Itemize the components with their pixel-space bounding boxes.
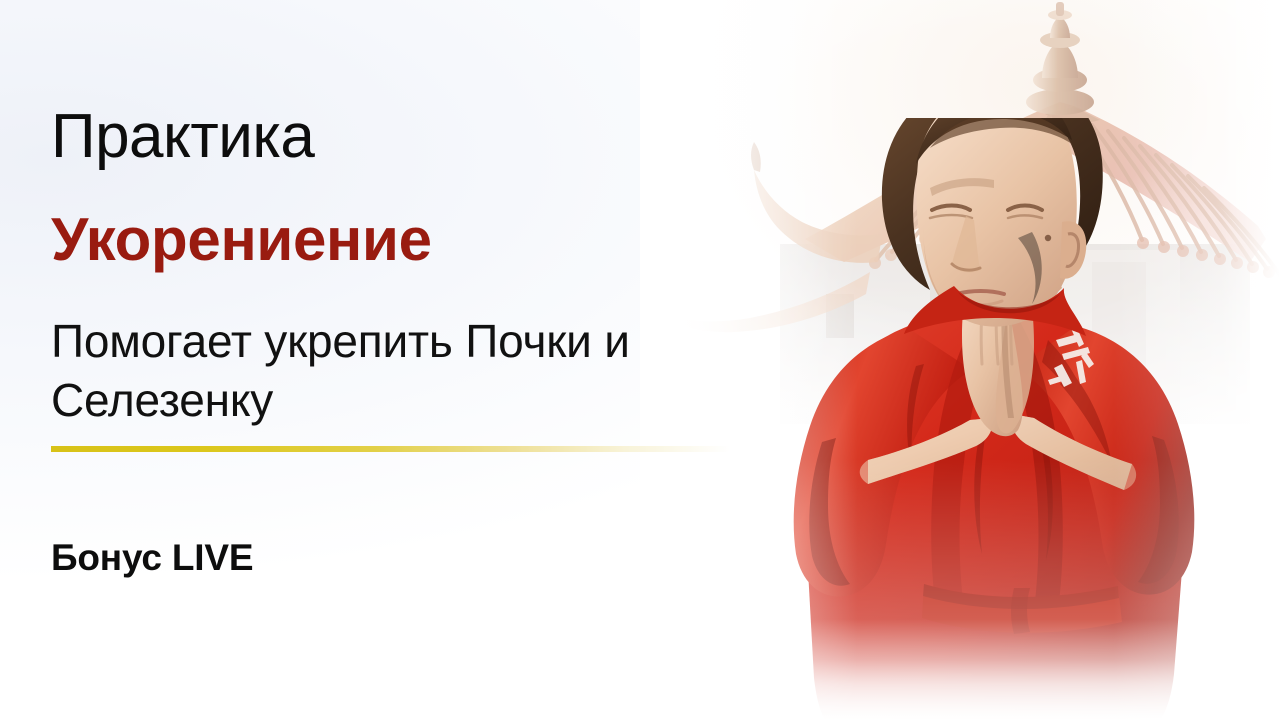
gold-divider [51, 446, 751, 452]
presentation-slide: Практика Укорениение Помогает укрепить П… [0, 0, 1280, 720]
slide-headline: Укорениение [51, 208, 432, 271]
slide-copy: Практика Укорениение Помогает укрепить П… [51, 0, 751, 720]
slide-kicker: Практика [51, 104, 314, 169]
slide-cta-label: Бонус LIVE [51, 538, 253, 579]
meditating-figure [718, 118, 1278, 720]
figure-bottom-fade [718, 118, 1278, 720]
slide-subheadline: Помогает укрепить Почки и Селезенку [51, 312, 731, 430]
